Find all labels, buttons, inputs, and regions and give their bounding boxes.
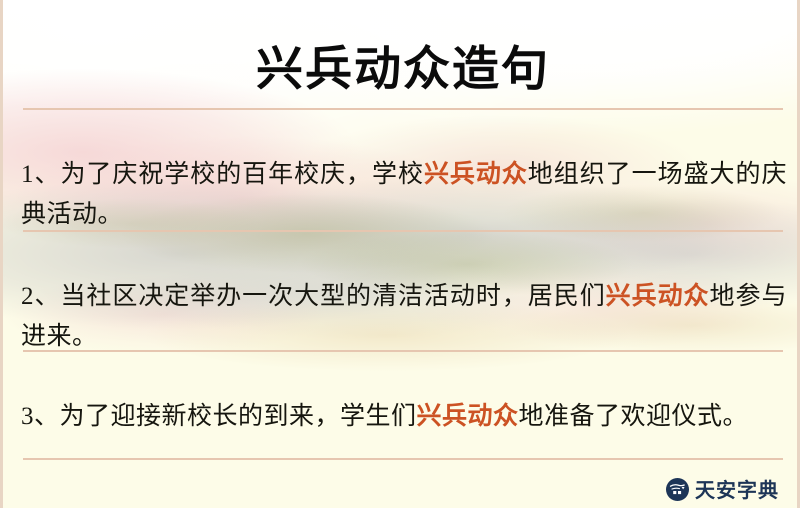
page-root: 兴兵动众造句 1、为了庆祝学校的百年校庆，学校兴兵动众地组织了一场盛大的庆典活动… [0,0,800,508]
sentence-text-before: 为了庆祝学校的百年校庆，学校 [60,161,424,188]
brand-name: 天安字典 [695,480,779,500]
seal-badge-icon [666,478,689,501]
sentence-item: 2、当社区决定举办一次大型的清洁活动时，居民们兴兵动众地参与进来。 [21,277,787,357]
keyword-highlight: 兴兵动众 [417,403,519,430]
brand-watermark: 天安字典 [666,478,779,501]
keyword-highlight: 兴兵动众 [606,283,710,310]
sentence-text-before: 为了迎接新校长的到来，学生们 [60,403,417,430]
divider-bottom [23,458,783,460]
page-title: 兴兵动众造句 [256,45,550,94]
keyword-highlight: 兴兵动众 [424,161,528,188]
divider-top [23,108,783,110]
sentence-item: 3、为了迎接新校长的到来，学生们兴兵动众地准备了欢迎仪式。 [21,397,787,437]
sentence-index: 3、 [21,403,60,430]
sentence-text-before: 当社区决定举办一次大型的清洁活动时，居民们 [60,283,605,310]
sentence-index: 2、 [21,283,60,310]
sentence-text-after: 地准备了欢迎仪式。 [519,403,749,430]
sentence-index: 1、 [21,161,60,188]
sentence-item: 1、为了庆祝学校的百年校庆，学校兴兵动众地组织了一场盛大的庆典活动。 [21,155,787,235]
